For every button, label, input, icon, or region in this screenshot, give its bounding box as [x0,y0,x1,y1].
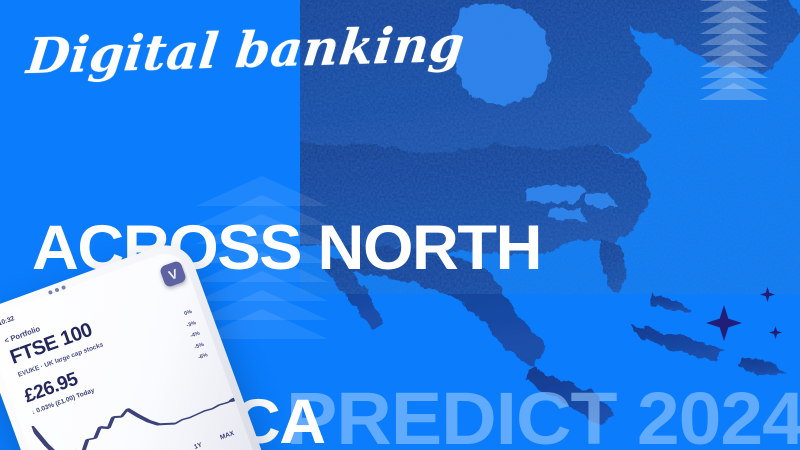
y-axis-tick: -3% [186,320,197,329]
chevron-arrow-up-stack-right [700,0,768,94]
chevron-up-icon [700,83,768,100]
banner-stage: PREDICT 2024 Digital banking ACROSS NORT… [0,0,800,450]
y-axis-tick: -4% [190,331,201,340]
range-option-max[interactable]: MAX [219,430,235,442]
status-time: 10:32 [0,315,15,327]
chart-y-axis: 0% -3% -4% -5% -6% [182,309,209,361]
app-icon-glyph: V [167,266,180,281]
y-axis-tick: 0% [183,309,193,317]
range-option-1y[interactable]: 1Y [193,442,203,450]
y-axis-tick: -5% [193,341,204,350]
script-subtitle: Digital banking [24,20,467,81]
